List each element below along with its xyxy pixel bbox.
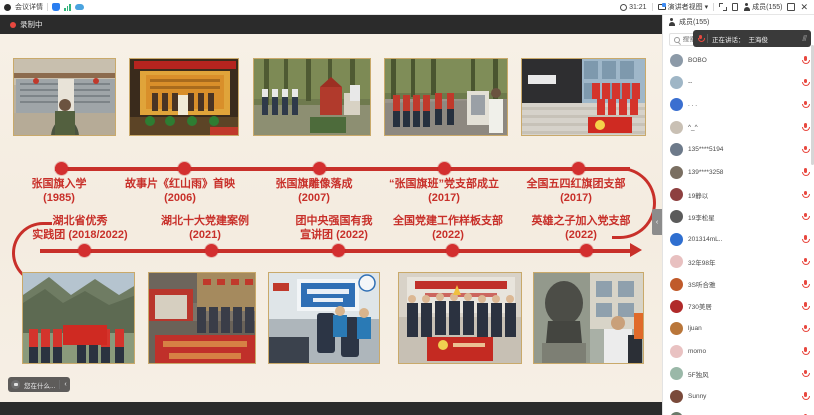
timeline-label-3: 张国旗雕像落成 (2007)	[250, 178, 378, 206]
timeline-title: “张国旗班”党支部成立	[370, 178, 518, 192]
timeline-node	[572, 162, 585, 175]
participant-name: 3S听合雅	[688, 279, 797, 289]
participant-row[interactable]: ^_^	[663, 116, 814, 138]
photo-hero-son	[533, 272, 644, 364]
timeline-year: (2018/2022)	[68, 229, 127, 241]
chevron-left-icon: ‹	[656, 219, 658, 226]
timeline-year: (2021)	[136, 229, 274, 243]
photo-red-education	[148, 272, 256, 364]
recording-dot-icon	[10, 22, 16, 28]
person-icon	[668, 18, 675, 26]
timeline-title: 团中央强国有我	[276, 215, 392, 229]
timeline-top-line	[55, 167, 630, 171]
photo-art	[522, 59, 646, 136]
chevron-left-icon[interactable]: ‹	[64, 381, 66, 388]
recording-bar: 录制中	[0, 15, 662, 34]
shield-icon[interactable]	[52, 3, 60, 11]
timeline-bottom-label-2: 湖北十大党建案例 (2021)	[136, 215, 274, 243]
participant-name: 19李松星	[688, 212, 797, 222]
timeline-year: (2006)	[110, 192, 250, 206]
meeting-window: 会议详情 31:21 演讲者视图 ▾ 成员(155)	[0, 0, 814, 415]
avatar	[670, 278, 683, 291]
layout-icon[interactable]	[732, 3, 738, 11]
participant-row[interactable]: 139****3258	[663, 161, 814, 183]
meeting-detail-label[interactable]: 会议详情	[15, 2, 43, 12]
timeline-node	[446, 244, 459, 257]
timeline-node	[580, 244, 593, 257]
photo-school-gate-1985	[13, 58, 116, 136]
timeline-year: (2022)	[336, 229, 368, 241]
avatar	[670, 255, 683, 268]
microphone-icon[interactable]	[802, 370, 808, 378]
microphone-icon[interactable]	[802, 213, 808, 221]
timeline-node	[178, 162, 191, 175]
avatar	[670, 54, 683, 67]
microphone-icon[interactable]	[802, 235, 808, 243]
avatar	[670, 367, 683, 380]
avatar	[670, 143, 683, 156]
avatar	[670, 98, 683, 111]
participant-row[interactable]: . . .	[663, 94, 814, 116]
person-icon	[743, 3, 750, 11]
photo-art	[269, 273, 380, 364]
photo-practice-team	[22, 272, 135, 364]
timeline-arrow-icon	[630, 243, 642, 257]
divider	[652, 3, 653, 11]
timeline-year: (1985)	[0, 192, 121, 206]
participant-row[interactable]: Sunny	[663, 385, 814, 407]
participant-name: momo	[688, 348, 797, 355]
participant-row[interactable]: 半城烟雨	[663, 407, 814, 415]
timeline-label-2: 故事片《红山雨》首映 (2006)	[110, 178, 250, 206]
meeting-timer: 31:21	[620, 4, 647, 11]
members-count-label: 成员(155)	[752, 2, 782, 12]
avatar	[670, 188, 683, 201]
expand-icon[interactable]	[719, 3, 727, 11]
presenter-view-selector[interactable]: 演讲者视图 ▾	[658, 2, 709, 12]
timeline-year: (2022)	[518, 229, 644, 243]
photo-art	[254, 59, 371, 136]
photo-art	[385, 59, 508, 136]
avatar	[670, 121, 683, 134]
float-control-label: 您在什么...	[24, 380, 55, 390]
timeline-label-5: 全国五四红旗团支部 (2017)	[508, 178, 644, 206]
timer-value: 31:21	[629, 4, 647, 11]
panel-collapse-handle[interactable]: ‹	[652, 209, 662, 235]
timeline-title: 张国旗入学	[0, 178, 121, 192]
avatar	[670, 210, 683, 223]
participant-name: ^_^	[688, 124, 797, 131]
microphone-icon[interactable]	[802, 191, 808, 199]
recording-label: 录制中	[20, 19, 43, 30]
participant-row[interactable]: 3S听合雅	[663, 273, 814, 295]
microphone-icon[interactable]	[802, 101, 808, 109]
participants-panel: 成员(155) BOBO--. . .^_^135****5194139****…	[662, 15, 814, 415]
participants-list[interactable]: BOBO--. . .^_^135****5194139****325819静以…	[663, 49, 814, 415]
timeline-title: 全国五四红旗团支部	[508, 178, 644, 192]
avatar	[670, 76, 683, 89]
photo-art	[534, 273, 644, 364]
participant-name: 730美居	[688, 301, 797, 311]
timeline-bottom-label-1: 湖北省优秀 实践团 (2018/2022)	[20, 215, 140, 243]
info-icon[interactable]	[4, 4, 11, 11]
screen-share-icon	[658, 4, 666, 10]
shared-screen-stage[interactable]: 张国旗入学 (1985) 故事片《红山雨》首映 (2006) 张国旗雕像落成 (…	[0, 34, 662, 402]
timeline-year-line: 宣讲团 (2022)	[276, 229, 392, 243]
participant-row[interactable]: 730美居	[663, 295, 814, 317]
timeline-title-cont: 实践团	[32, 229, 65, 241]
microphone-icon[interactable]	[802, 79, 808, 87]
timeline-node	[55, 162, 68, 175]
presenter-view-label: 演讲者视图	[668, 2, 703, 12]
participant-name: 139****3258	[688, 169, 797, 176]
photo-art	[130, 59, 239, 136]
divider	[47, 3, 48, 11]
participant-name: 201314mL..	[688, 236, 797, 243]
photo-statue-2007	[253, 58, 371, 136]
participant-name: . . .	[688, 101, 797, 108]
participant-row[interactable]: --	[663, 71, 814, 93]
avatar	[670, 390, 683, 403]
chevron-down-icon: ▾	[705, 3, 709, 11]
microphone-icon[interactable]	[802, 347, 808, 355]
microphone-icon[interactable]	[802, 258, 808, 266]
timeline-title: 故事片《红山雨》首映	[110, 178, 250, 192]
microphone-icon[interactable]	[802, 392, 808, 400]
timeline-year: (2017)	[508, 192, 644, 206]
microphone-icon[interactable]	[802, 56, 808, 64]
bottom-toolbar-strip	[0, 402, 662, 415]
participant-row[interactable]: 32年98年	[663, 251, 814, 273]
avatar	[670, 300, 683, 313]
timeline-year: (2007)	[250, 192, 378, 206]
timeline-node	[313, 162, 326, 175]
camera-icon[interactable]	[11, 380, 20, 389]
photo-model-branch	[398, 272, 522, 364]
photo-art	[149, 273, 256, 364]
microphone-icon[interactable]	[802, 302, 808, 310]
screen-share-float-control[interactable]: 您在什么... ‹	[8, 377, 70, 392]
participant-row[interactable]: 135****5194	[663, 139, 814, 161]
microphone-icon[interactable]	[802, 280, 808, 288]
avatar	[670, 322, 683, 335]
participant-row[interactable]: BOBO	[663, 49, 814, 71]
participant-row[interactable]: ljuan	[663, 318, 814, 340]
members-count-button[interactable]: 成员(155)	[743, 2, 782, 12]
participant-name: BOBO	[688, 57, 797, 64]
photo-film-premiere-2006	[129, 58, 239, 136]
participant-name: --	[688, 79, 797, 86]
signal-icon[interactable]	[64, 3, 71, 11]
timeline-bottom-label-5: 英雄之子加入党支部 (2022)	[518, 215, 644, 243]
participant-row[interactable]: momo	[663, 340, 814, 362]
timeline-year: (2017)	[370, 192, 518, 206]
speaking-prefix: 正在讲话：	[712, 34, 745, 44]
cloud-icon[interactable]	[75, 4, 84, 10]
participant-row[interactable]: 19李松星	[663, 206, 814, 228]
timeline-node	[205, 244, 218, 257]
participant-row[interactable]: 5F独风	[663, 362, 814, 384]
close-icon[interactable]: ✕	[800, 3, 808, 12]
photo-art	[399, 273, 522, 364]
participant-name: Sunny	[688, 393, 797, 400]
audio-wave-icon: ///	[802, 34, 806, 43]
photo-online-lecture	[268, 272, 380, 364]
participant-row[interactable]: 19静以	[663, 183, 814, 205]
microphone-icon[interactable]	[802, 325, 808, 333]
timeline-title: 湖北省优秀	[20, 215, 140, 229]
timeline-label-1: 张国旗入学 (1985)	[0, 178, 121, 206]
search-icon	[674, 37, 680, 43]
photo-party-branch-2017	[384, 58, 508, 136]
participant-name: 135****5194	[688, 146, 797, 153]
avatar	[670, 233, 683, 246]
timeline-year-line: 实践团 (2018/2022)	[20, 229, 140, 243]
participants-panel-header: 成员(155)	[663, 15, 814, 29]
timeline-node	[332, 244, 345, 257]
timeline-label-4: “张国旗班”党支部成立 (2017)	[370, 178, 518, 206]
timeline-node	[78, 244, 91, 257]
divider	[713, 3, 714, 11]
top-menu-bar: 会议详情 31:21 演讲者视图 ▾ 成员(155)	[0, 0, 814, 15]
speaking-now-tooltip: 正在讲话： 王海俊 ///	[693, 30, 811, 47]
topbar-right-group: 31:21 演讲者视图 ▾ 成员(155) ✕	[620, 2, 814, 12]
participant-row[interactable]: 201314mL..	[663, 228, 814, 250]
participants-title: 成员(155)	[679, 17, 709, 27]
photo-art	[23, 273, 135, 364]
microphone-icon[interactable]	[802, 123, 808, 131]
participant-name: ljuan	[688, 325, 797, 332]
popout-icon[interactable]	[787, 3, 795, 11]
timeline-year: (2022)	[380, 229, 516, 243]
photo-youth-league-2017	[521, 58, 646, 136]
avatar	[670, 166, 683, 179]
timeline-title-cont: 宣讲团	[300, 229, 333, 241]
participant-name: 5F独风	[688, 369, 797, 379]
timeline-title: 湖北十大党建案例	[136, 215, 274, 229]
speaking-name: 王海俊	[749, 34, 769, 44]
timeline-title: 全国党建工作样板支部	[380, 215, 516, 229]
participant-name: 32年98年	[688, 257, 797, 267]
divider	[707, 34, 708, 43]
microphone-icon	[698, 35, 703, 43]
timeline-bottom-label-3: 团中央强国有我 宣讲团 (2022)	[276, 215, 392, 243]
photo-art	[14, 59, 116, 136]
divider	[59, 380, 60, 389]
participant-name: 19静以	[688, 190, 797, 200]
topbar-left-group: 会议详情	[0, 2, 84, 12]
clock-icon	[620, 4, 627, 11]
timeline-bottom-label-4: 全国党建工作样板支部 (2022)	[380, 215, 516, 243]
microphone-icon[interactable]	[802, 168, 808, 176]
timeline-title: 张国旗雕像落成	[250, 178, 378, 192]
timeline-node	[438, 162, 451, 175]
microphone-icon[interactable]	[802, 146, 808, 154]
timeline-title: 英雄之子加入党支部	[518, 215, 644, 229]
avatar	[670, 345, 683, 358]
